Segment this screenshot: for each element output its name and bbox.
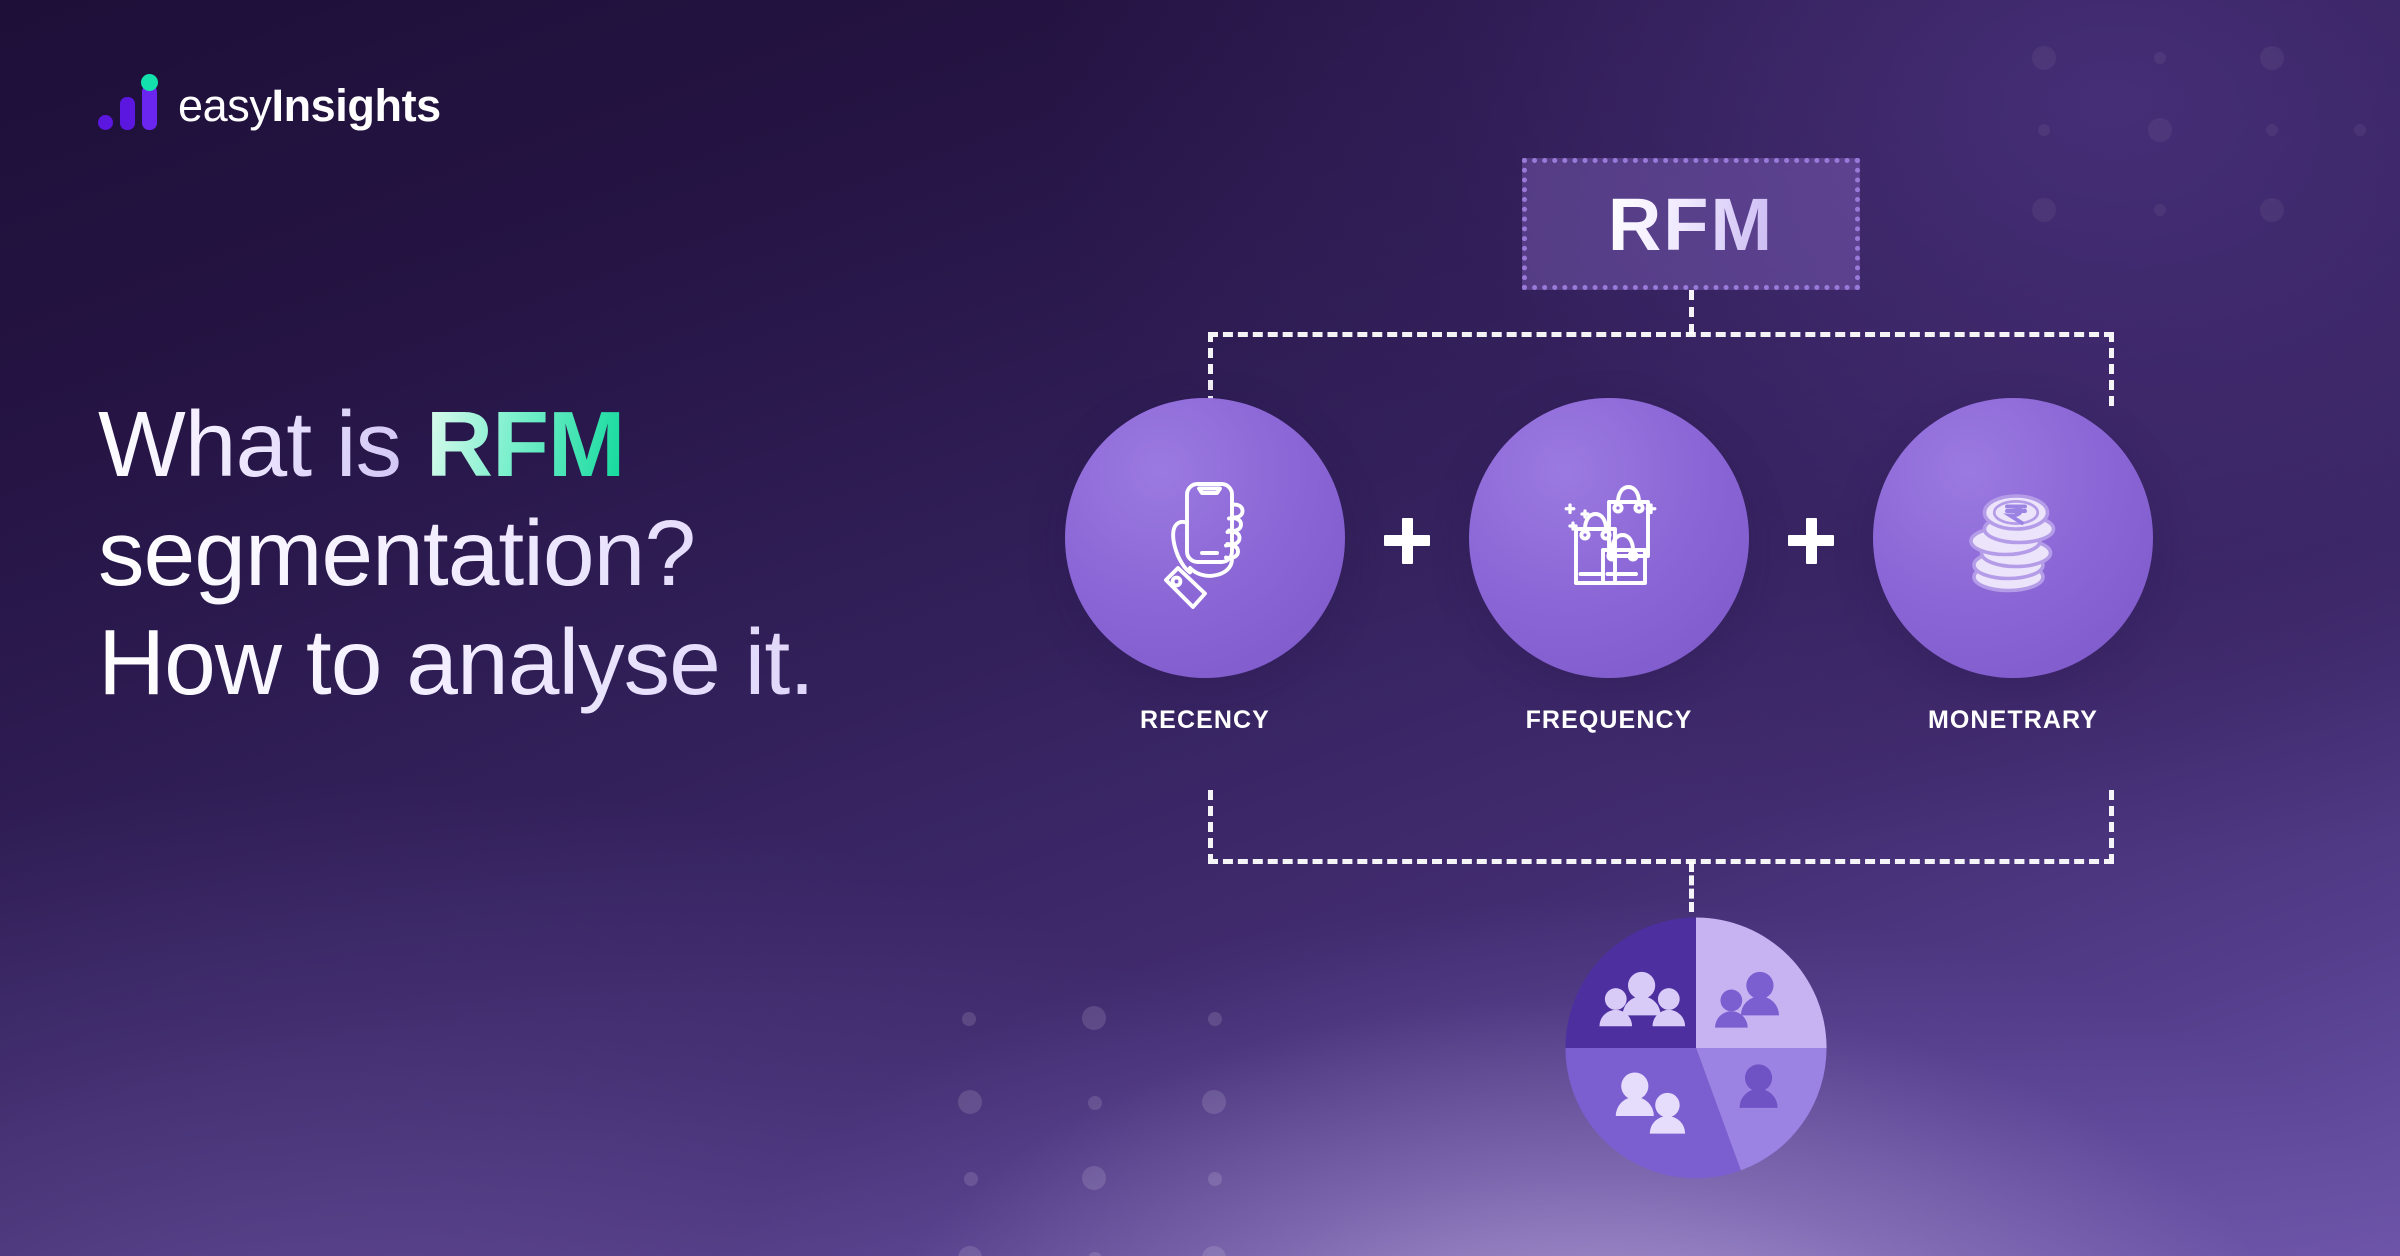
- pillar-recency-label: RECENCY: [1140, 706, 1270, 735]
- brand-name-bold: Insights: [271, 80, 440, 131]
- decorative-dot: [2354, 124, 2366, 136]
- pillar-monetrary-circle: [1873, 398, 2153, 678]
- connector-bracket-bottom: [1208, 790, 2114, 864]
- pillar-frequency-label: FREQUENCY: [1526, 706, 1693, 735]
- headline-line-3: How to analyse it.: [98, 608, 1118, 717]
- hand-holding-phone-icon: [1130, 463, 1280, 613]
- decorative-dot: [2038, 124, 2050, 136]
- pillar-recency-circle: [1065, 398, 1345, 678]
- headline-line-2: segmentation?: [98, 499, 1118, 608]
- rfm-diagram: RFM: [1060, 140, 2360, 1240]
- logo-bar-medium: [120, 97, 135, 130]
- pillar-frequency-circle: [1469, 398, 1749, 678]
- headline-line-1: What is RFM: [98, 390, 1118, 499]
- decorative-dot: [958, 1246, 982, 1256]
- pillar-monetrary[interactable]: MONETRARY: [1868, 398, 2158, 735]
- rfm-pillars: RECENCY +: [1060, 398, 2360, 735]
- connector-bracket-top: [1208, 332, 2114, 406]
- brand-name: easyInsights: [178, 83, 441, 130]
- decorative-dot: [962, 1012, 976, 1026]
- decorative-dot: [1088, 1252, 1102, 1256]
- decorative-dot: [2266, 124, 2278, 136]
- connector-result-stem: [1689, 862, 1694, 912]
- customer-segments-pie-icon[interactable]: [1560, 912, 1832, 1184]
- decorative-dot: [2260, 46, 2284, 70]
- page-title: What is RFM segmentation? How to analyse…: [98, 390, 1118, 716]
- rfm-root-node[interactable]: RFM: [1522, 158, 1860, 290]
- headline-accent-rfm: RFM: [426, 392, 624, 496]
- logo-accent-dot: [141, 74, 158, 91]
- decorative-dot: [2154, 52, 2166, 64]
- brand-name-light: easy: [178, 80, 271, 131]
- brand-logo[interactable]: easyInsights: [98, 78, 441, 130]
- rupee-coin-stack-icon: [1938, 463, 2088, 613]
- decorative-dot: [958, 1090, 982, 1114]
- pillar-frequency[interactable]: FREQUENCY: [1464, 398, 1754, 735]
- decorative-dot: [964, 1172, 978, 1186]
- decorative-dot: [2148, 118, 2172, 142]
- connector-root-stem: [1689, 290, 1694, 334]
- segments-pie-chart: [1560, 912, 1832, 1184]
- headline-line-1-prefix: What is: [98, 392, 426, 496]
- poster-canvas: easyInsights What is RFM segmentation? H…: [0, 0, 2400, 1256]
- pillar-monetrary-label: MONETRARY: [1928, 706, 2098, 735]
- pillar-recency[interactable]: RECENCY: [1060, 398, 1350, 735]
- logo-bar-tall: [142, 85, 157, 130]
- shopping-bags-icon: [1534, 463, 1684, 613]
- rfm-root-label: RFM: [1608, 182, 1774, 267]
- bar-chart-logo-icon: [98, 78, 160, 130]
- logo-bar-small: [98, 115, 113, 130]
- decorative-dot: [2032, 46, 2056, 70]
- decorative-dot: [1202, 1246, 1226, 1256]
